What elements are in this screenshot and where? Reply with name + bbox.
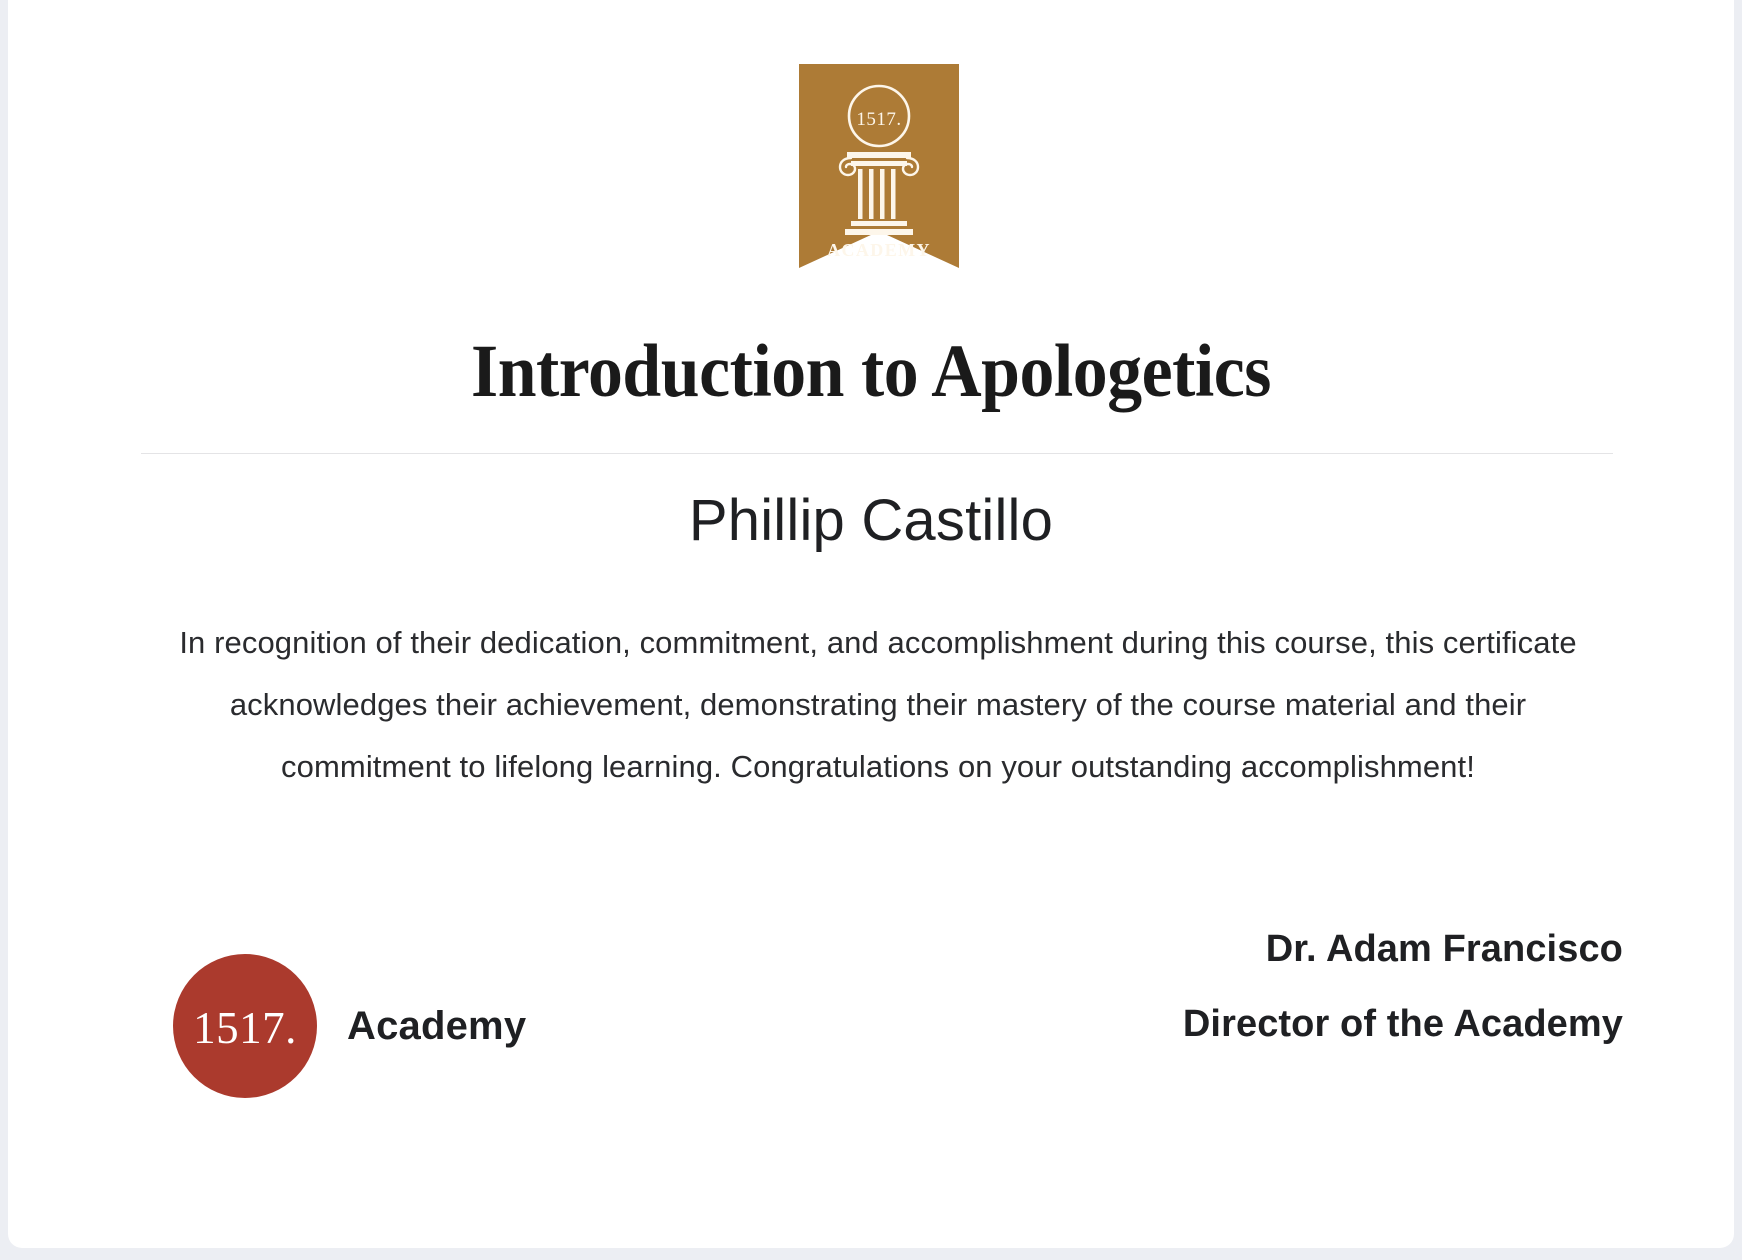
title-divider <box>141 453 1613 454</box>
certificate-footer: 1517. Academy Dr. Adam Francisco Directo… <box>8 930 1734 1110</box>
signatory-name: Dr. Adam Francisco <box>1183 930 1623 968</box>
signature-block: Dr. Adam Francisco Director of the Acade… <box>1183 930 1623 1043</box>
svg-text:1517.: 1517. <box>856 109 901 130</box>
certificate-body-text: In recognition of their dedication, comm… <box>148 612 1608 798</box>
academy-label: Academy <box>347 1004 526 1049</box>
academy-seal-year: 1517. <box>193 1006 297 1051</box>
academy-seal-icon: 1517. <box>173 954 317 1098</box>
signatory-title: Director of the Academy <box>1183 1005 1623 1043</box>
crest-column-icon: 1517. ACADEMY <box>799 64 959 268</box>
certificate-card: 1517. ACADEMY Introduction to Apologetic… <box>8 0 1734 1248</box>
page-title: Introduction to Apologetics <box>68 334 1673 409</box>
academy-mark: 1517. Academy <box>173 954 526 1098</box>
svg-text:ACADEMY: ACADEMY <box>827 240 931 260</box>
academy-crest-banner-icon: 1517. ACADEMY <box>799 64 959 268</box>
recipient-name: Phillip Castillo <box>8 489 1734 554</box>
